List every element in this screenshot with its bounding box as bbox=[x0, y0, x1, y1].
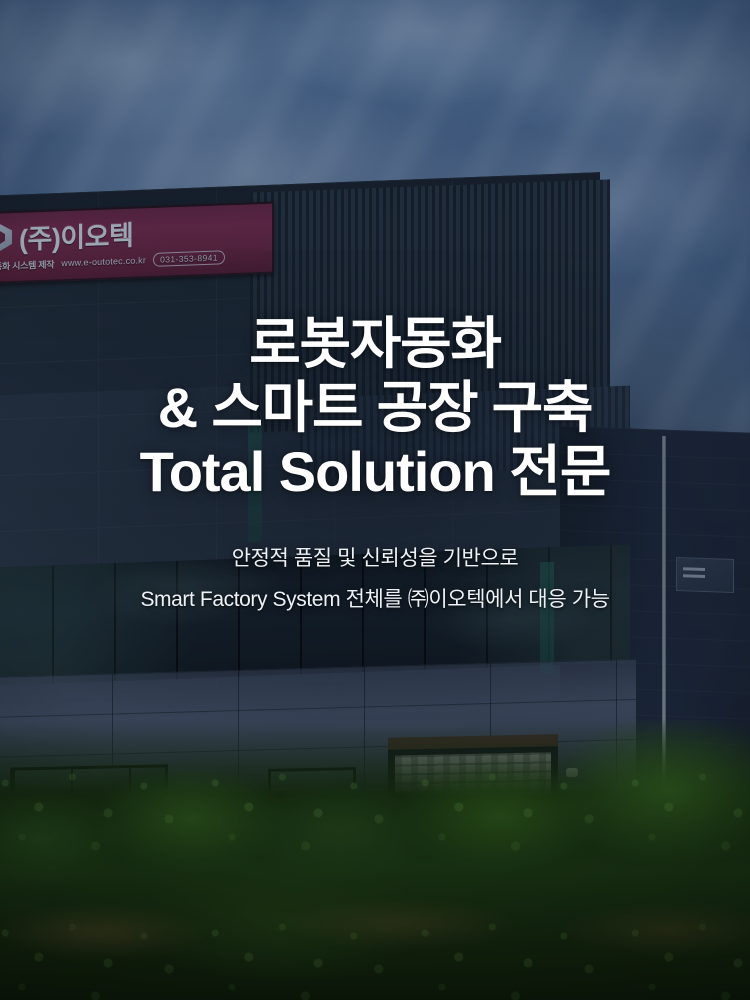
headline-line-1: 로봇자동화 bbox=[140, 312, 611, 376]
headline-line-2: & 스마트 공장 구축 bbox=[140, 376, 611, 440]
hero-content: 로봇자동화 & 스마트 공장 구축 Total Solution 전문 안정적 … bbox=[0, 0, 750, 1000]
hero-banner: (주)이오텍 자동화 시스템 제작 www.e-outotec.co.kr 03… bbox=[0, 0, 750, 1000]
hero-subtitle: 안정적 품질 및 신뢰성을 기반으로 Smart Factory System … bbox=[140, 539, 609, 621]
hero-headline: 로봇자동화 & 스마트 공장 구축 Total Solution 전문 bbox=[140, 312, 611, 503]
headline-line-3: Total Solution 전문 bbox=[140, 440, 611, 504]
subtitle-line-1: 안정적 품질 및 신뢰성을 기반으로 bbox=[140, 539, 609, 580]
subtitle-line-2: Smart Factory System 전체를 ㈜이오텍에서 대응 가능 bbox=[140, 580, 609, 621]
